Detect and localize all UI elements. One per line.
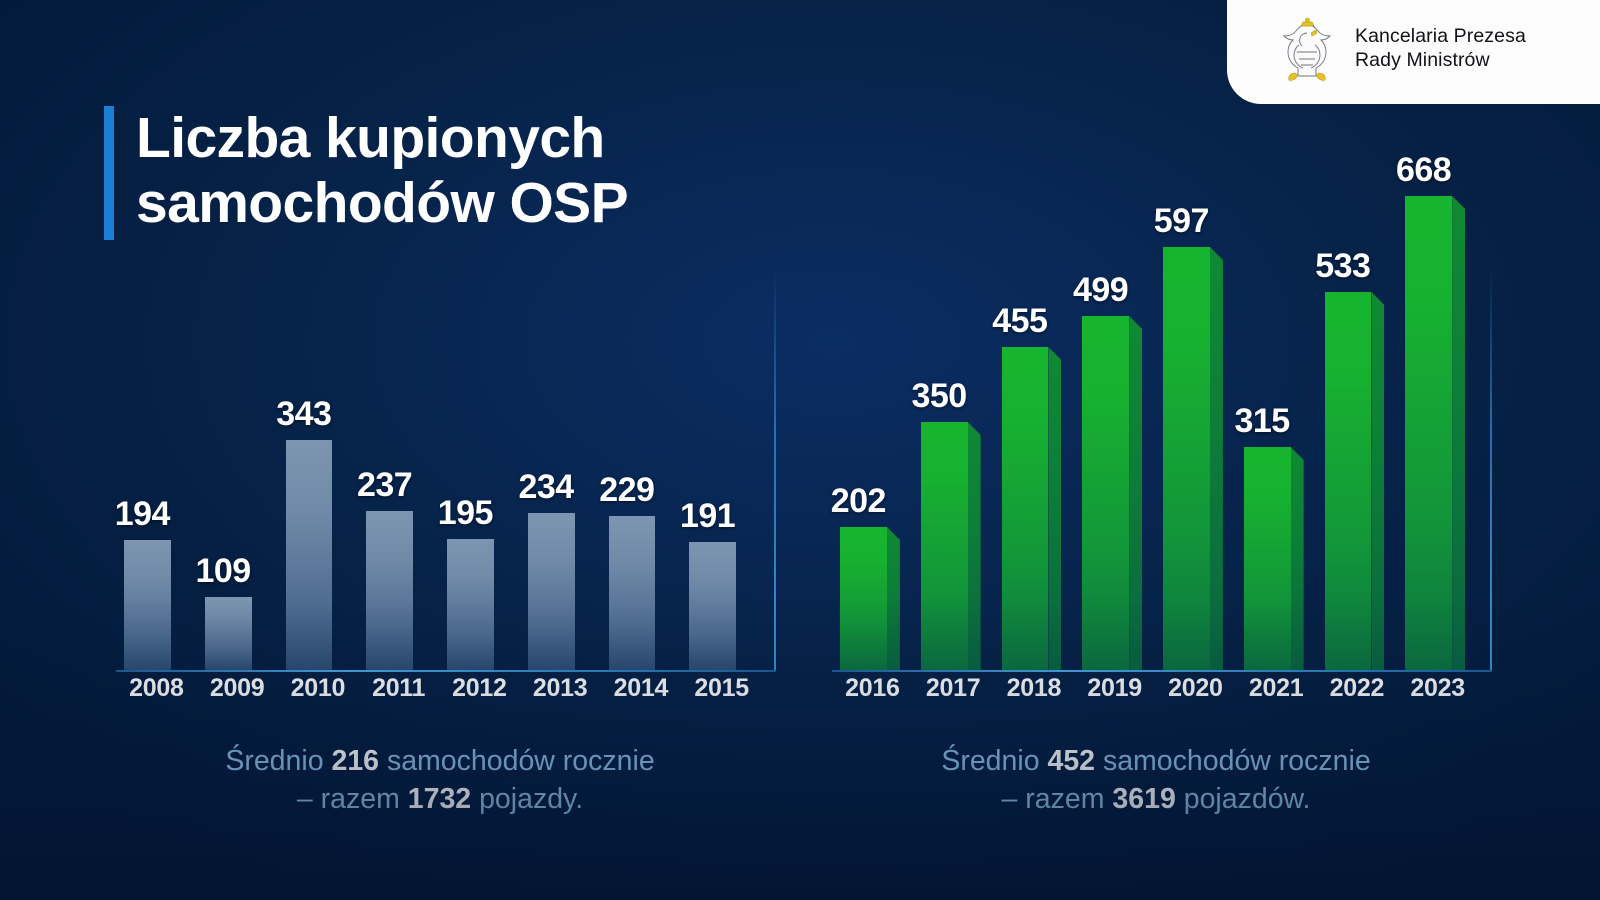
bar-face: [1002, 347, 1049, 670]
caption-average-value: 216: [331, 745, 379, 777]
x-axis-line-right: [832, 670, 1492, 672]
bar-2011[interactable]: 237: [366, 511, 413, 670]
bar-slot: 499: [1074, 150, 1155, 670]
bar-slot: 668: [1397, 150, 1478, 670]
caption-line2-prefix: – razem: [297, 783, 408, 815]
bar-side-face: [736, 542, 749, 670]
bar-side-face: [252, 597, 265, 670]
bar-slot: 455: [994, 150, 1075, 670]
bar-value-label: 597: [1154, 202, 1201, 241]
bar-value-label: 315: [1234, 402, 1281, 441]
bar-value-label: 343: [276, 395, 323, 434]
bar-slot: 597: [1155, 150, 1236, 670]
logo-line-1: Kancelaria Prezesa: [1355, 25, 1533, 49]
caption-total-value: 3619: [1112, 783, 1175, 815]
bar-slot: 234: [520, 150, 601, 670]
bar-value-label: 194: [115, 495, 162, 534]
bar-value-label: 229: [599, 471, 646, 510]
bar-side-face: [887, 527, 900, 670]
caption-average-value: 452: [1047, 745, 1095, 777]
bar-slot: 109: [197, 150, 278, 670]
x-axis-line-left: [116, 670, 776, 672]
bar-2021[interactable]: 315: [1244, 447, 1291, 670]
bar-face: [528, 513, 575, 670]
bar-2012[interactable]: 195: [447, 539, 494, 670]
bar-side-face: [1129, 316, 1142, 670]
bar-face: [840, 527, 887, 670]
x-tick-label: 2020: [1155, 674, 1236, 703]
bar-slot: 237: [358, 150, 439, 670]
x-tick-label: 2015: [681, 674, 762, 703]
bar-face: [1244, 447, 1291, 670]
caption-middle: samochodów rocznie: [379, 745, 655, 777]
polish-eagle-emblem-icon: [1275, 15, 1339, 89]
bar-slot: 191: [681, 150, 762, 670]
x-tick-label: 2014: [601, 674, 682, 703]
y-axis-line-right: [1490, 268, 1492, 672]
bar-face: [921, 422, 968, 670]
bar-value-label: 533: [1315, 247, 1362, 286]
plot-area-left: 194 109 343 237 195 234 229 191: [104, 150, 776, 672]
bar-face: [609, 516, 656, 670]
bar-group-left: 194 109 343 237 195 234 229 191: [116, 150, 762, 670]
bar-slot: 350: [913, 150, 994, 670]
bar-slot: 194: [116, 150, 197, 670]
caption-prefix: Średnio: [941, 745, 1047, 777]
bar-2010[interactable]: 343: [286, 440, 333, 670]
bar-value-label: 191: [680, 497, 727, 536]
bar-value-label: 234: [518, 468, 565, 507]
bar-value-label: 499: [1073, 271, 1120, 310]
bar-side-face: [332, 440, 345, 670]
bar-face: [1163, 247, 1210, 670]
bar-face: [124, 540, 171, 670]
bar-face: [286, 440, 333, 670]
x-axis-labels-right: 2016 2017 2018 2019 2020 2021 2022 2023: [832, 674, 1478, 703]
infographic-canvas: Kancelaria Prezesa Rady Ministrów Liczba…: [0, 0, 1600, 900]
bar-value-label: 195: [438, 494, 485, 533]
x-tick-label: 2022: [1317, 674, 1398, 703]
bar-value-label: 455: [992, 302, 1039, 341]
plot-area-right: 202 350 455 499 597 315 533 668: [820, 150, 1492, 672]
bar-side-face: [1210, 247, 1223, 670]
bar-face: [205, 597, 252, 670]
government-logo-panel: Kancelaria Prezesa Rady Ministrów: [1227, 0, 1600, 104]
bar-face: [1082, 316, 1129, 670]
bar-value-label: 668: [1396, 151, 1443, 190]
bar-face: [1405, 196, 1452, 670]
bar-side-face: [413, 511, 426, 670]
bar-2018[interactable]: 455: [1002, 347, 1049, 670]
bar-value-label: 237: [357, 466, 404, 505]
chart-left-2008-2015: 194 109 343 237 195 234 229 191 2008 200…: [104, 150, 776, 850]
bar-2023[interactable]: 668: [1405, 196, 1452, 670]
bar-face: [1325, 292, 1372, 670]
caption-suffix: pojazdów.: [1176, 783, 1311, 815]
bar-side-face: [968, 422, 981, 670]
x-tick-label: 2009: [197, 674, 278, 703]
bar-group-right: 202 350 455 499 597 315 533 668: [832, 150, 1478, 670]
bar-value-label: 109: [195, 552, 242, 591]
bar-face: [447, 539, 494, 670]
bar-side-face: [494, 539, 507, 670]
caption-suffix: pojazdy.: [471, 783, 583, 815]
bar-face: [366, 511, 413, 670]
bar-face: [689, 542, 736, 670]
caption-middle: samochodów rocznie: [1095, 745, 1371, 777]
bar-2008[interactable]: 194: [124, 540, 171, 670]
bar-slot: 533: [1317, 150, 1398, 670]
y-axis-line-left: [774, 268, 776, 672]
logo-line-2: Rady Ministrów: [1355, 49, 1533, 73]
bar-side-face: [1291, 447, 1304, 670]
caption-total-value: 1732: [408, 783, 471, 815]
bar-slot: 343: [278, 150, 359, 670]
bar-2020[interactable]: 597: [1163, 247, 1210, 670]
caption-prefix: Średnio: [225, 745, 331, 777]
bar-slot: 202: [832, 150, 913, 670]
x-tick-label: 2013: [520, 674, 601, 703]
caption-line2-prefix: – razem: [1002, 783, 1113, 815]
x-tick-label: 2018: [994, 674, 1075, 703]
x-tick-label: 2023: [1397, 674, 1478, 703]
bar-side-face: [171, 540, 184, 670]
bar-side-face: [655, 516, 668, 670]
bar-2013[interactable]: 234: [528, 513, 575, 670]
bar-side-face: [1048, 347, 1061, 670]
x-tick-label: 2019: [1074, 674, 1155, 703]
x-tick-label: 2010: [278, 674, 359, 703]
bar-2014[interactable]: 229: [609, 516, 656, 670]
bar-slot: 315: [1236, 150, 1317, 670]
caption-left: Średnio 216 samochodów rocznie – razem 1…: [104, 742, 776, 819]
x-axis-labels-left: 2008 2009 2010 2011 2012 2013 2014 2015: [116, 674, 762, 703]
bar-value-label: 350: [911, 377, 958, 416]
bar-side-face: [1371, 292, 1384, 670]
chart-right-2016-2023: 202 350 455 499 597 315 533 668 2016 201…: [820, 150, 1492, 850]
x-tick-label: 2012: [439, 674, 520, 703]
bar-side-face: [575, 513, 588, 670]
bar-2017[interactable]: 350: [921, 422, 968, 670]
x-tick-label: 2021: [1236, 674, 1317, 703]
bar-2019[interactable]: 499: [1082, 316, 1129, 670]
bar-slot: 195: [439, 150, 520, 670]
bar-2022[interactable]: 533: [1325, 292, 1372, 670]
bar-slot: 229: [601, 150, 682, 670]
bar-2016[interactable]: 202: [840, 527, 887, 670]
x-tick-label: 2008: [116, 674, 197, 703]
x-tick-label: 2016: [832, 674, 913, 703]
bar-2009[interactable]: 109: [205, 597, 252, 670]
bar-side-face: [1452, 196, 1465, 670]
caption-right: Średnio 452 samochodów rocznie – razem 3…: [820, 742, 1492, 819]
x-tick-label: 2017: [913, 674, 994, 703]
bar-value-label: 202: [831, 482, 878, 521]
bar-2015[interactable]: 191: [689, 542, 736, 670]
x-tick-label: 2011: [358, 674, 439, 703]
